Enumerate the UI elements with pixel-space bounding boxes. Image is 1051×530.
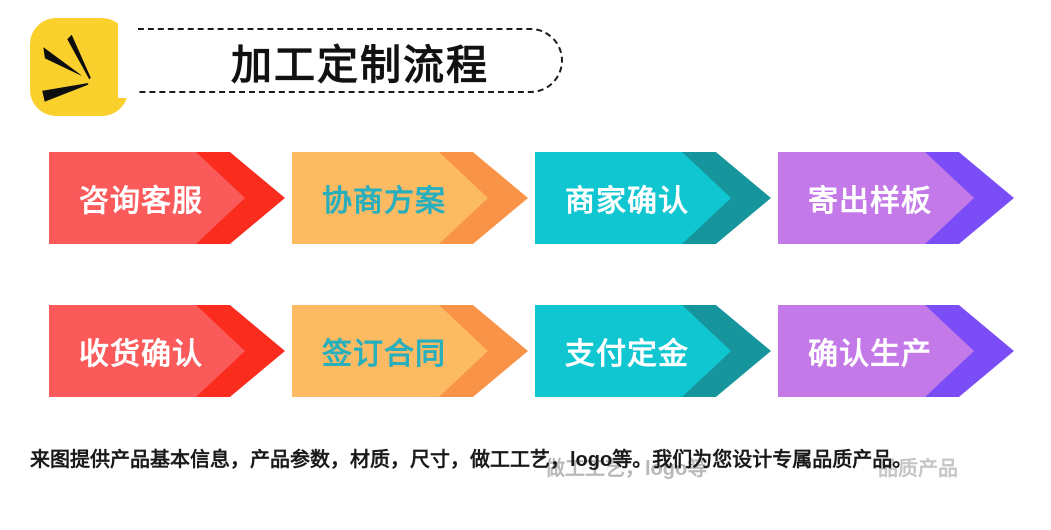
flow-step-6[interactable]: 签订合同 (292, 305, 528, 397)
flow-step-3[interactable]: 商家确认 (535, 152, 771, 244)
flow-step-label: 确认生产 (778, 305, 962, 397)
flow-step-label: 协商方案 (292, 152, 476, 244)
flow-step-4[interactable]: 寄出样板 (778, 152, 1014, 244)
flow-step-7[interactable]: 支付定金 (535, 305, 771, 397)
flow-step-label: 支付定金 (535, 305, 719, 397)
flow-step-label: 商家确认 (535, 152, 719, 244)
footer: 做工工艺，logo等 品质产品 来图提供产品基本信息，产品参数，材质，尺寸，做工… (0, 443, 1051, 493)
flow-step-label: 寄出样板 (778, 152, 962, 244)
flow-step-1[interactable]: 咨询客服 (49, 152, 285, 244)
flow-step-label: 收货确认 (49, 305, 233, 397)
flow-step-8[interactable]: 确认生产 (778, 305, 1014, 397)
flow-infographic: 加工定制流程 咨询客服 协商方案 商家确认 寄出样板 收货 (0, 0, 1051, 530)
flow-step-label: 咨询客服 (49, 152, 233, 244)
footer-note: 来图提供产品基本信息，产品参数，材质，尺寸，做工工艺，logo等。我们为您设计专… (30, 443, 1030, 472)
flow-step-5[interactable]: 收货确认 (49, 305, 285, 397)
flow-step-label: 签订合同 (292, 305, 476, 397)
flow-step-2[interactable]: 协商方案 (292, 152, 528, 244)
